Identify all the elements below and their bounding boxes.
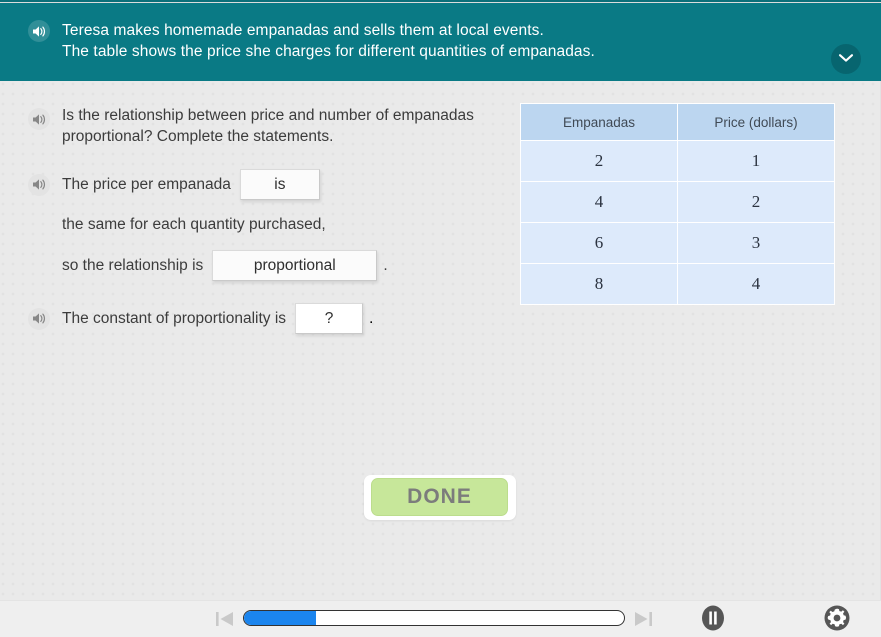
speaker-icon[interactable]	[28, 108, 50, 130]
dropdown-price-per-empanada[interactable]: is	[240, 169, 320, 200]
done-button[interactable]: DONE	[371, 478, 508, 516]
cell-empanadas: 8	[521, 264, 678, 305]
cell-price: 2	[678, 182, 835, 223]
statement-two-row: The constant of proportionality is ? .	[28, 303, 498, 334]
cell-empanadas: 2	[521, 141, 678, 182]
header-text: Teresa makes homemade empanadas and sell…	[62, 20, 595, 62]
skip-to-end-button[interactable]	[632, 609, 654, 629]
table-row: 2 1	[521, 141, 835, 182]
table-header-row: Empanadas Price (dollars)	[521, 104, 835, 141]
pause-icon	[699, 619, 727, 636]
skip-to-start-icon	[214, 616, 236, 633]
activity-stage: Is the relationship between price and nu…	[0, 81, 881, 600]
dropdown-relationship[interactable]: proportional	[212, 250, 377, 281]
table-row: 6 3	[521, 223, 835, 264]
statement-one-line-three: so the relationship is proportional .	[62, 250, 498, 281]
progress-bar-fill	[244, 611, 316, 625]
skip-to-start-button[interactable]	[214, 609, 236, 629]
collapse-header-button[interactable]	[831, 44, 861, 74]
cell-price: 1	[678, 141, 835, 182]
empanadas-price-table: Empanadas Price (dollars) 2 1 4 2 6	[520, 103, 835, 305]
chevron-down-icon	[838, 50, 854, 68]
statement-one-lead: The price per empanada	[62, 174, 231, 195]
gear-icon	[823, 619, 851, 636]
statement-one-period: .	[383, 257, 387, 275]
question-prompt-row: Is the relationship between price and nu…	[28, 105, 498, 147]
settings-button[interactable]	[823, 604, 851, 632]
pause-button[interactable]	[699, 604, 727, 632]
question-prompt-text: Is the relationship between price and nu…	[62, 105, 498, 147]
cell-empanadas: 6	[521, 223, 678, 264]
table-row: 8 4	[521, 264, 835, 305]
cell-empanadas: 4	[521, 182, 678, 223]
lesson-app: Teresa makes homemade empanadas and sell…	[0, 0, 881, 636]
progress-bar[interactable]	[243, 610, 625, 626]
dropdown-constant-of-proportionality[interactable]: ?	[295, 303, 363, 334]
question-block: Is the relationship between price and nu…	[28, 105, 498, 334]
speaker-icon[interactable]	[28, 174, 50, 196]
speaker-icon[interactable]	[28, 308, 50, 330]
statement-two-lead: The constant of proportionality is	[62, 308, 286, 329]
statement-one-row: The price per empanada is	[28, 169, 498, 200]
speaker-icon[interactable]	[28, 20, 50, 42]
question-header-banner: Teresa makes homemade empanadas and sell…	[0, 3, 881, 81]
column-header-empanadas: Empanadas	[521, 104, 678, 141]
statement-two-period: .	[369, 310, 373, 328]
skip-to-end-icon	[632, 616, 654, 633]
cell-price: 4	[678, 264, 835, 305]
table-row: 4 2	[521, 182, 835, 223]
top-accent-line	[0, 0, 881, 2]
cell-price: 3	[678, 223, 835, 264]
column-header-price: Price (dollars)	[678, 104, 835, 141]
statement-one-line-three-lead: so the relationship is	[62, 257, 203, 275]
statement-one-line-two: the same for each quantity purchased,	[62, 216, 498, 234]
